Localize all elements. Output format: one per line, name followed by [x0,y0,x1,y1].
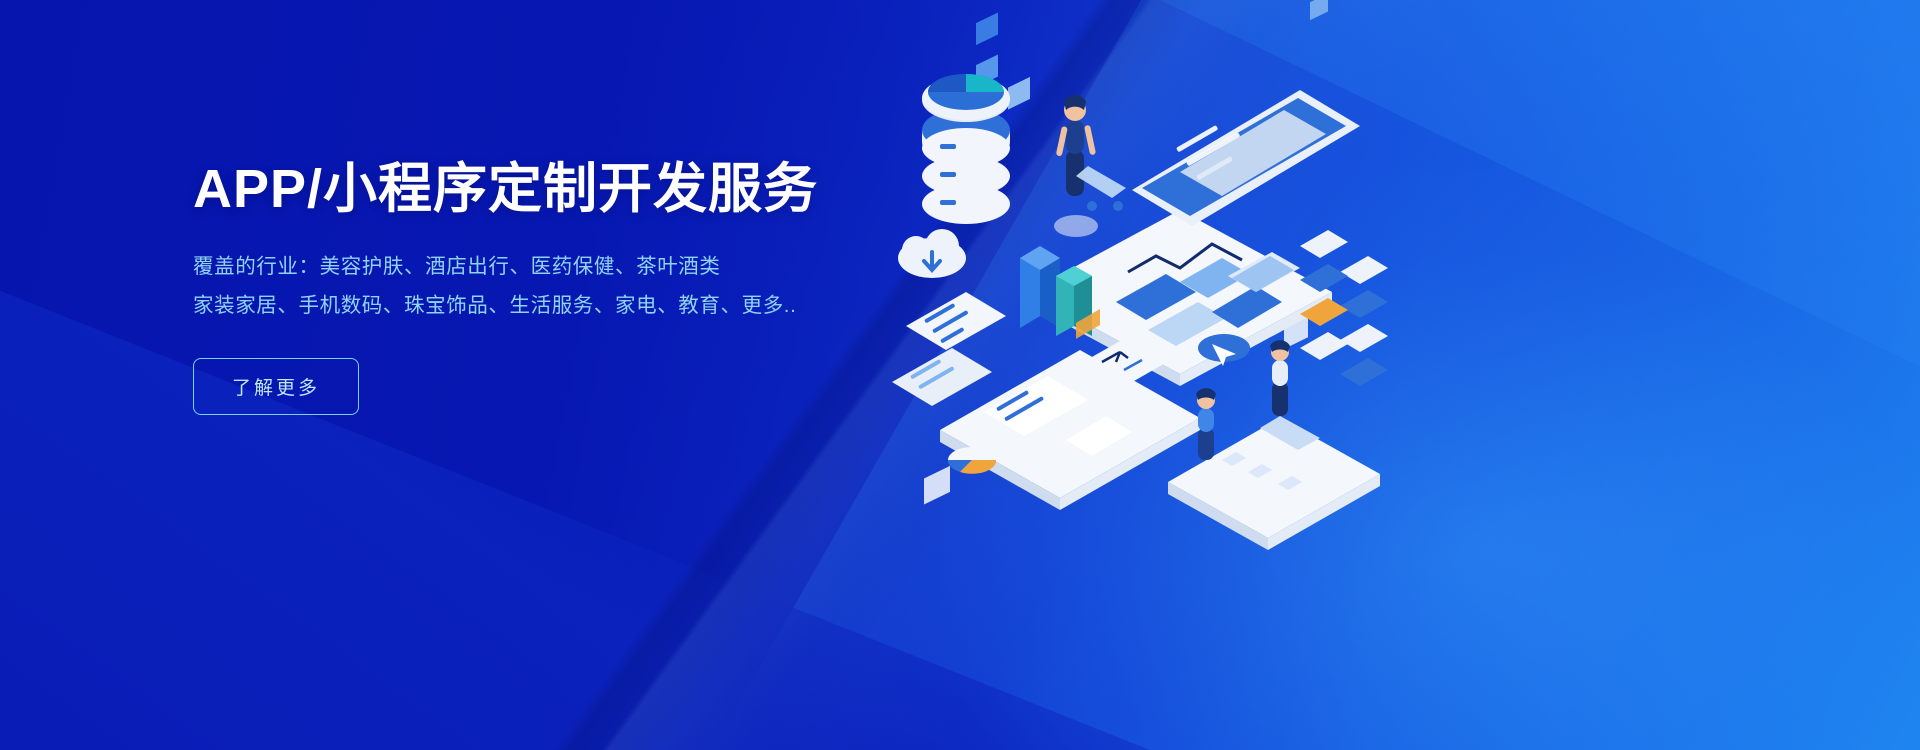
app-icon-grid [1300,230,1388,386]
hero-illustration [880,30,1440,590]
server-stack-icon [922,74,1010,224]
subtitle-line-2: 家装家居、手机数码、珠宝饰品、生活服务、家电、教育、更多.. [193,296,953,317]
subtitle-line-1: 覆盖的行业：美容护肤、酒店出行、医药保健、茶叶酒类 [193,257,953,278]
learn-more-button[interactable]: 了解更多 [193,358,359,415]
cloud-download-icon [898,229,966,278]
donut-chart [948,447,996,474]
banner-copy: APP/小程序定制开发服务 覆盖的行业：美容护肤、酒店出行、医药保健、茶叶酒类 … [193,160,953,415]
banner-root: APP/小程序定制开发服务 覆盖的行业：美容护肤、酒店出行、医药保健、茶叶酒类 … [0,0,1920,750]
page-title: APP/小程序定制开发服务 [193,160,953,219]
person-with-cart [1054,95,1126,237]
document-sheets [892,292,1006,406]
